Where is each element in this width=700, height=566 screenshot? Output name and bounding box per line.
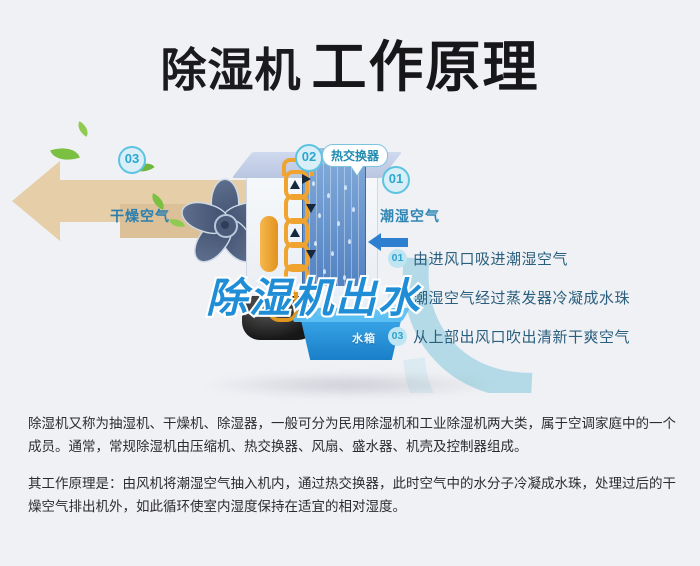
ground-shadow [200,372,500,398]
page-title-part2: 工作原理 [311,36,539,98]
watermark-overlay: 除湿机出水 [206,264,421,324]
heat-exchanger-callout: 热交换器 [322,144,388,167]
list-item: 02 潮湿空气经过蒸发器冷凝成水珠 [388,287,688,308]
list-item: 03 从上部出风口吹出清新干爽空气 [388,326,688,347]
intake-air-arrow [380,238,408,247]
list-item: 01 由进风口吸进潮湿空气 [388,248,688,269]
dry-air-label: 干燥空气 [110,206,170,226]
page-title-part1: 除湿机 [160,44,301,96]
infographic-page: 除湿机工作原理 [0,0,700,566]
leaf-icon [74,121,91,137]
step-text: 从上部出风口吹出清新干爽空气 [413,326,630,347]
badge-03: 03 [118,146,146,174]
page-title: 除湿机工作原理 [0,22,700,102]
paragraph-1: 除湿机又称为抽湿机、干燥机、除湿器，一般可分为民用除湿机和工业除湿机两大类，属于… [28,412,676,458]
paragraph-2: 其工作原理是：由风机将潮湿空气抽入机内，通过热交换器，此时空气中的水分子冷凝成水… [28,472,676,518]
humid-air-label: 潮湿空气 [380,206,440,226]
fan-hub [214,214,238,238]
badge-02: 02 [295,144,323,172]
step-text: 由进风口吸进潮湿空气 [413,248,568,269]
step-badge: 03 [388,327,407,346]
step-text: 潮湿空气经过蒸发器冷凝成水珠 [413,287,630,308]
description-text: 除湿机又称为抽湿机、干燥机、除湿器，一般可分为民用除湿机和工业除湿机两大类，属于… [28,412,676,532]
water-tank-label: 水箱 [352,330,376,346]
dehumidifier-diagram: 水箱 03 02 01 热交换器 干燥空气 潮湿空气 01 由进风口吸进潮湿空气… [0,108,700,393]
badge-01: 01 [382,166,410,194]
step-list: 01 由进风口吸进潮湿空气 02 潮湿空气经过蒸发器冷凝成水珠 03 从上部出风… [388,248,688,365]
